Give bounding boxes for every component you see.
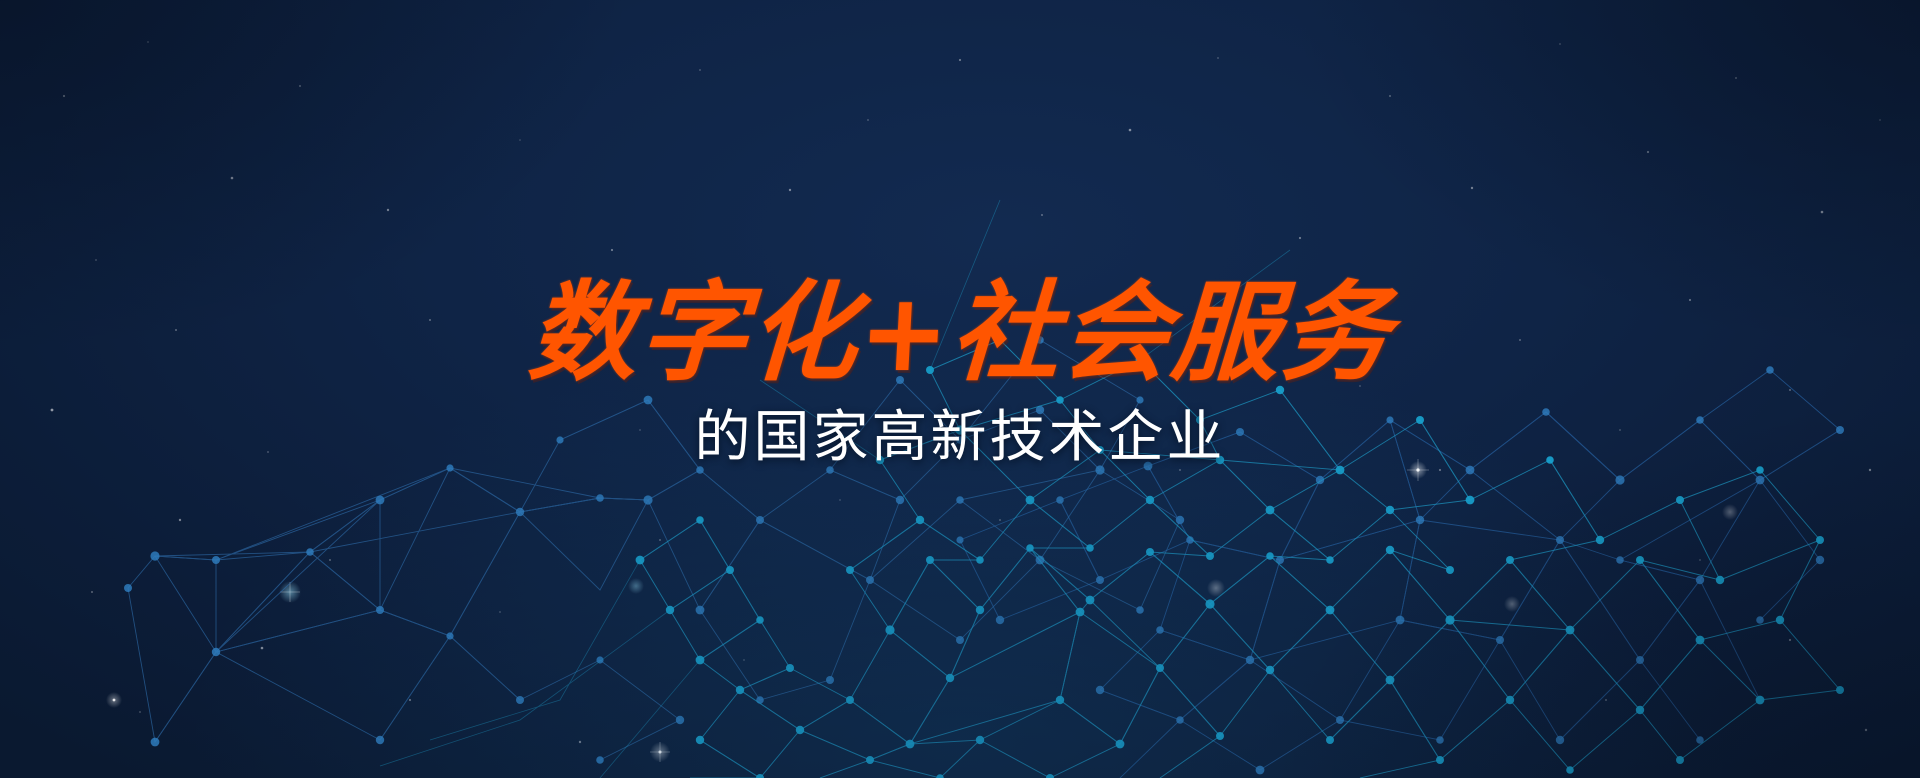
network-mesh-center xyxy=(0,0,1920,778)
hero-banner: 数字化+社会服务 的国家高新技术企业 xyxy=(0,0,1920,778)
